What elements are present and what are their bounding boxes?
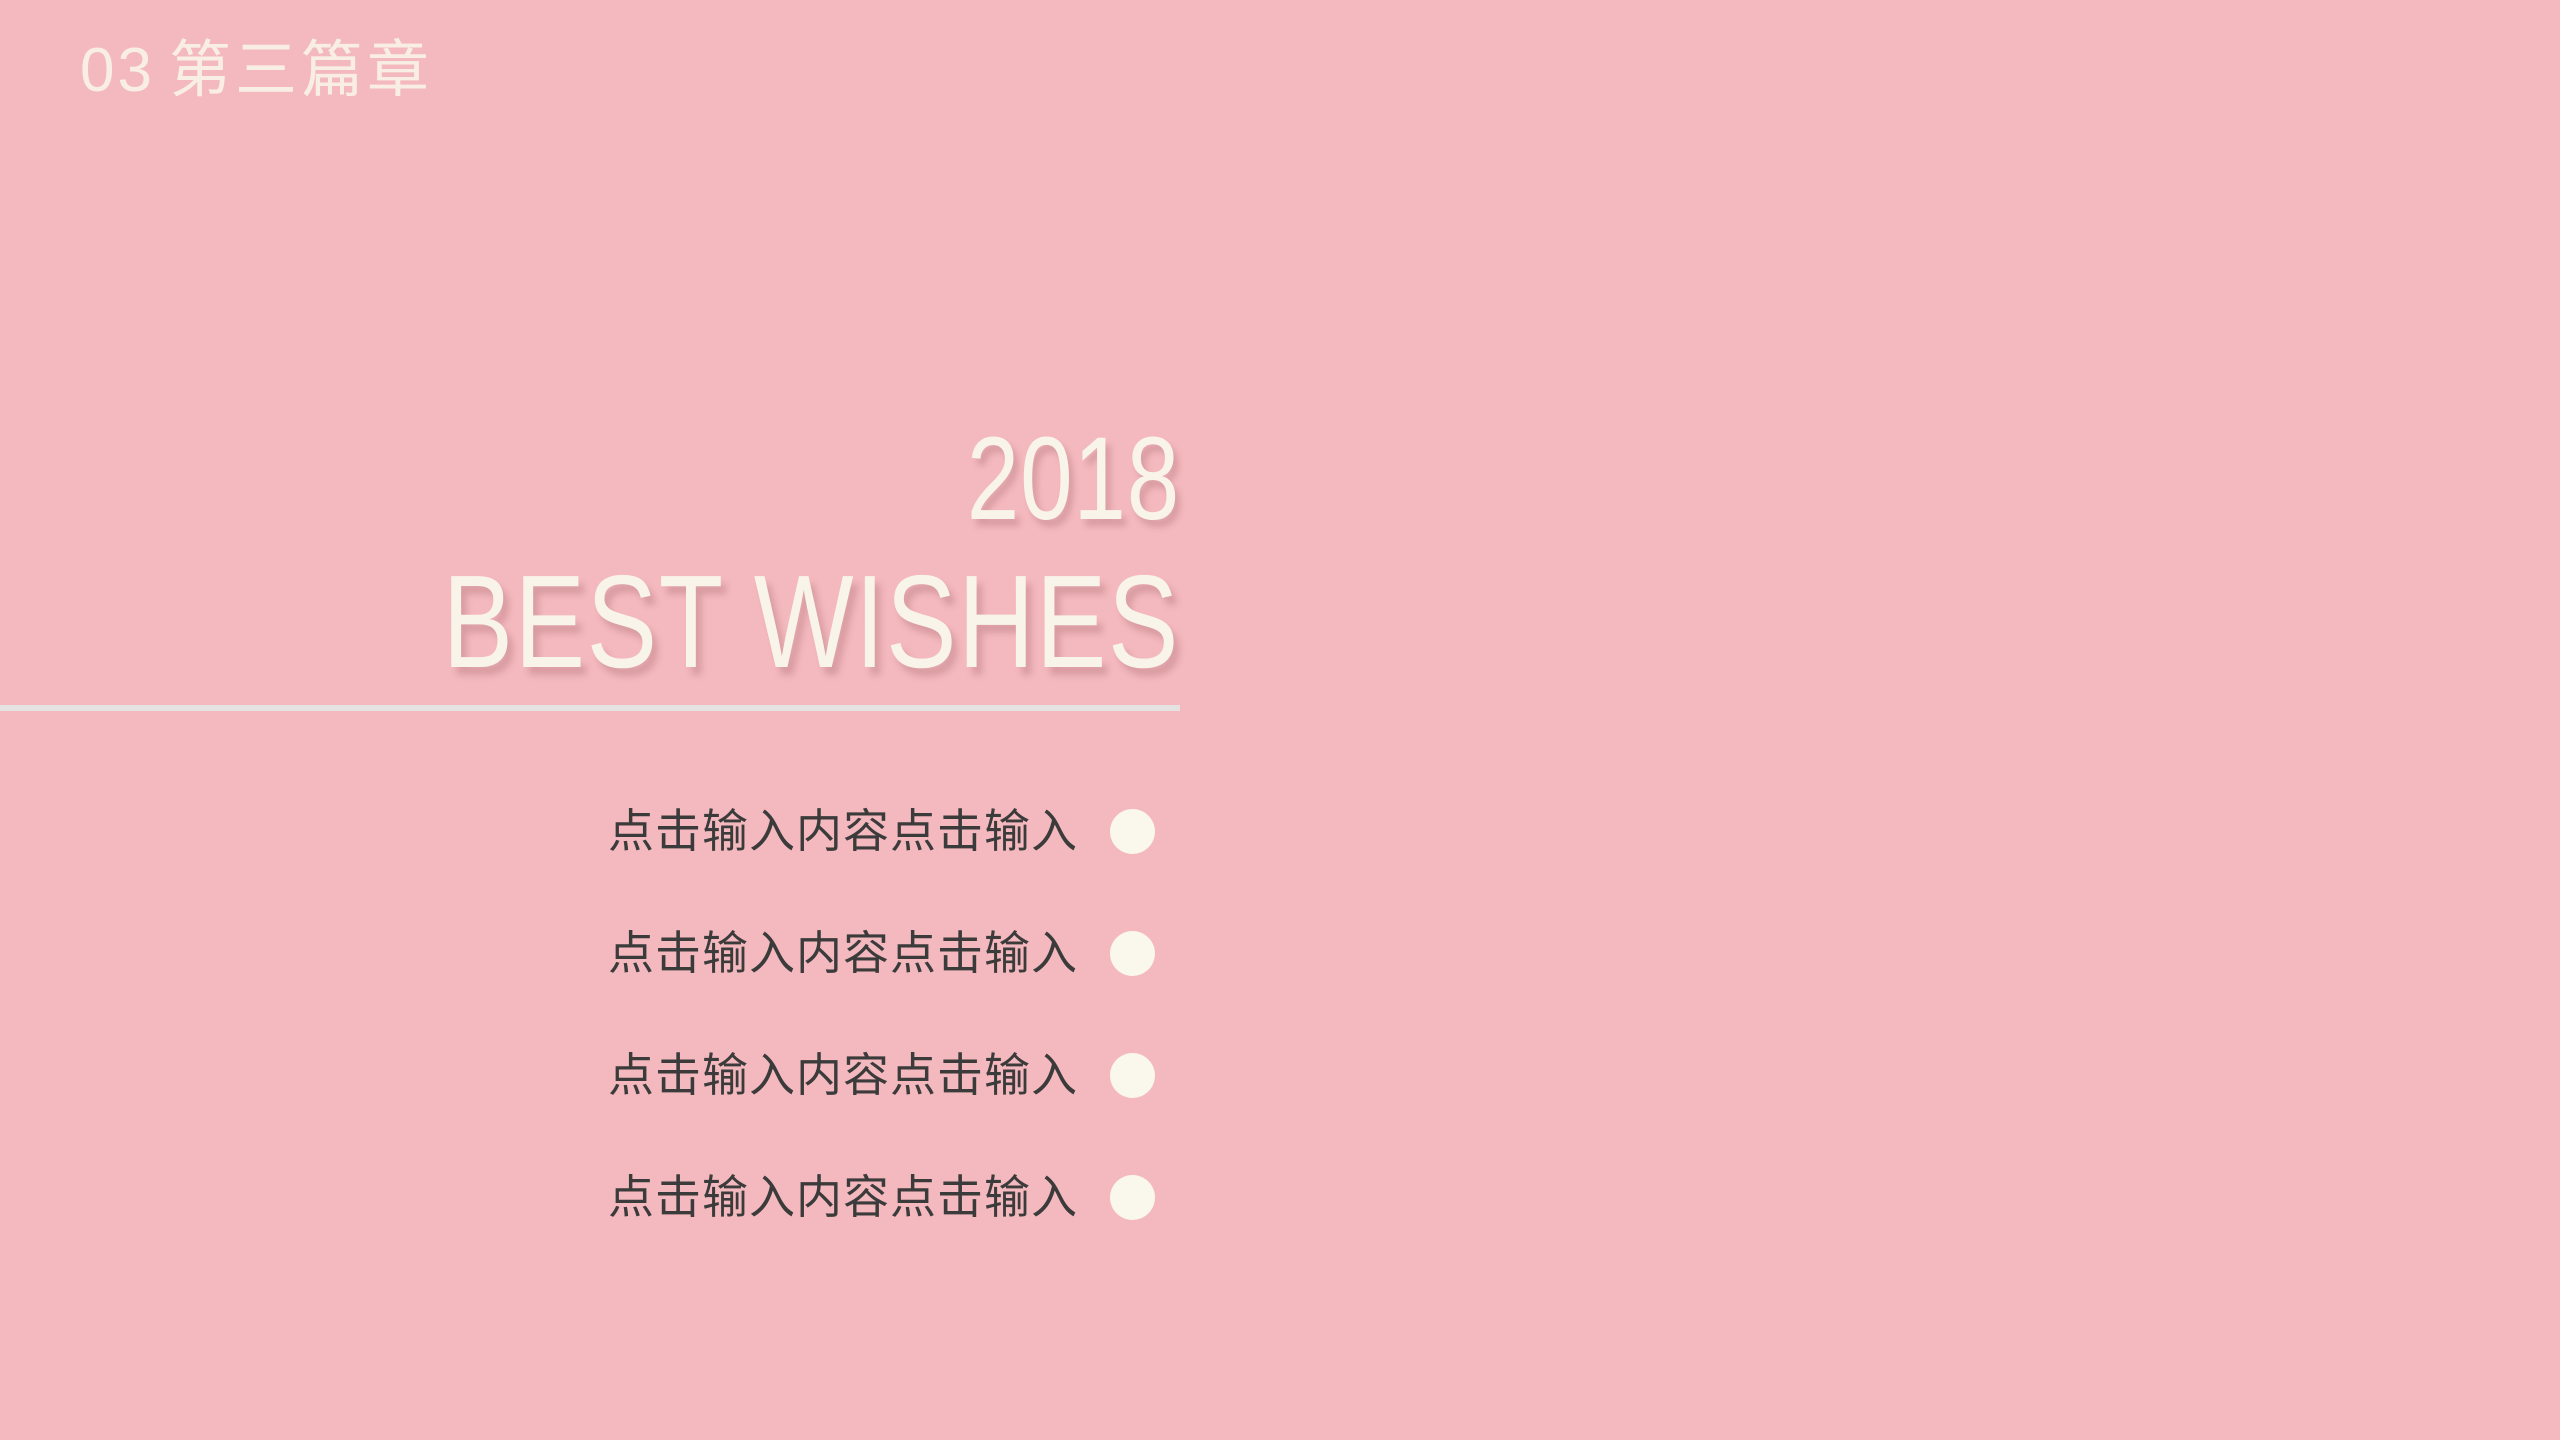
list-item-label: 点击输入内容点击输入 — [608, 1174, 1078, 1220]
list-item[interactable]: 点击输入内容点击输入 — [0, 770, 1180, 892]
dot-bullet-icon — [1110, 809, 1155, 854]
list-item-label: 点击输入内容点击输入 — [608, 930, 1078, 976]
dot-bullet-icon — [1110, 1175, 1155, 1220]
dot-bullet-icon — [1110, 1053, 1155, 1098]
bullet-list: 点击输入内容点击输入 点击输入内容点击输入 点击输入内容点击输入 点击输入内容点… — [0, 770, 1180, 1258]
section-marker: 03第三篇章 — [80, 38, 433, 103]
title-block: 2018 BEST WISHES — [0, 420, 1180, 688]
list-item-label: 点击输入内容点击输入 — [608, 1052, 1078, 1098]
list-item[interactable]: 点击输入内容点击输入 — [0, 1014, 1180, 1136]
title-year: 2018 — [236, 420, 1180, 538]
list-item-label: 点击输入内容点击输入 — [608, 808, 1078, 854]
list-item[interactable]: 点击输入内容点击输入 — [0, 1136, 1180, 1258]
section-number: 03 — [80, 36, 155, 105]
section-label: 第三篇章 — [169, 36, 433, 105]
title-headline: BEST WISHES — [236, 556, 1180, 688]
divider-rule — [0, 705, 1180, 711]
slide-canvas: 03第三篇章 2018 BEST WISHES 点击输入内容点击输入 点击输入内… — [0, 0, 2560, 1440]
dot-bullet-icon — [1110, 931, 1155, 976]
list-item[interactable]: 点击输入内容点击输入 — [0, 892, 1180, 1014]
